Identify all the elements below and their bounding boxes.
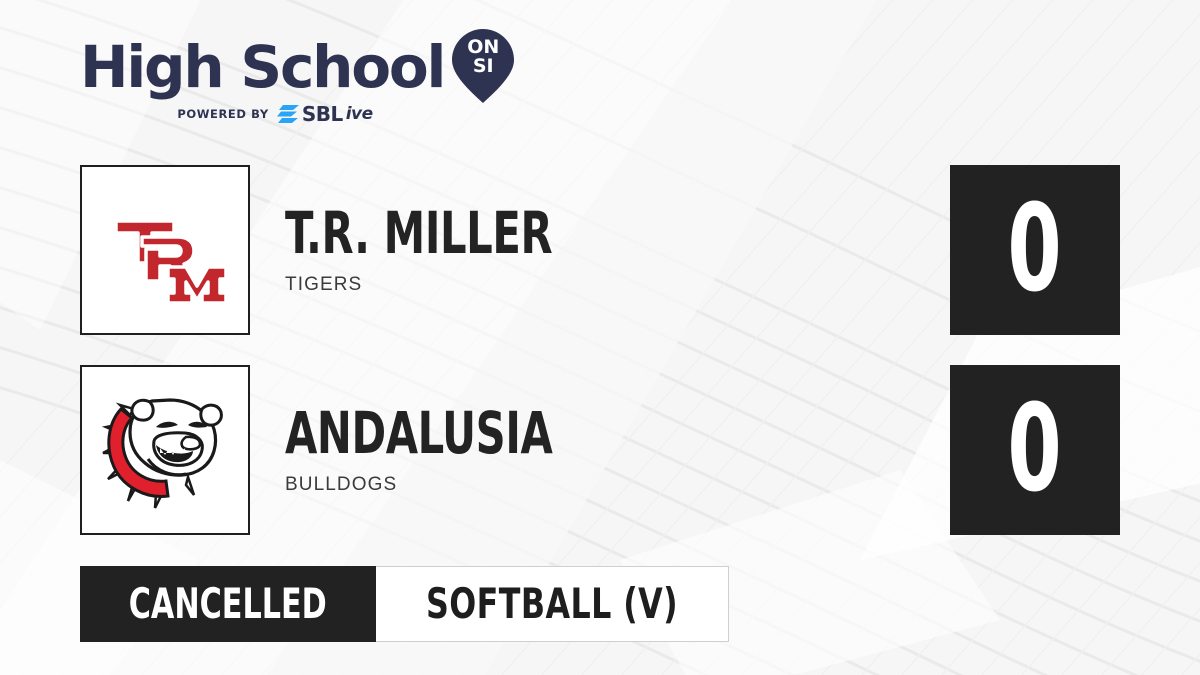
team-row: T.R. MILLER TIGERS 0 bbox=[80, 165, 1120, 335]
team-logo-box bbox=[80, 165, 250, 335]
powered-by-label: POWERED BY bbox=[177, 107, 268, 121]
onsi-line-si: SI bbox=[450, 57, 516, 76]
sblive-logo: SBL ive bbox=[277, 104, 373, 124]
trm-monogram-logo-icon bbox=[90, 175, 240, 325]
bulldog-head-logo-icon bbox=[90, 375, 240, 525]
team-name: ANDALUSIA bbox=[285, 404, 552, 462]
team-score-box: 0 bbox=[950, 165, 1120, 335]
sport-badge-label: SOFTBALL (V) bbox=[426, 583, 678, 625]
sblive-name-tail: ive bbox=[346, 104, 373, 124]
onsi-pin-icon: ON SI bbox=[450, 27, 510, 105]
sblive-name-main: SBL bbox=[302, 104, 343, 124]
sblive-arrow-icon bbox=[277, 105, 299, 123]
status-badge: CANCELLED bbox=[80, 566, 376, 642]
status-bar: CANCELLED SOFTBALL (V) bbox=[80, 566, 729, 642]
brand-wordmark: High School bbox=[80, 36, 444, 98]
team-logo-box bbox=[80, 365, 250, 535]
onsi-badge-text: ON SI bbox=[450, 38, 516, 76]
team-text-block: T.R. MILLER TIGERS bbox=[285, 165, 619, 335]
team-text-block: ANDALUSIA BULLDOGS bbox=[285, 365, 619, 535]
team-score: 0 bbox=[1008, 190, 1062, 310]
team-score: 0 bbox=[1008, 390, 1062, 510]
brand-row: High School ON SI bbox=[80, 34, 510, 100]
team-mascot: BULLDOGS bbox=[285, 474, 619, 496]
sport-badge: SOFTBALL (V) bbox=[376, 566, 729, 642]
brand-lockup: High School ON SI POWERED BY SBL bbox=[80, 34, 510, 134]
team-row: ANDALUSIA BULLDOGS 0 bbox=[80, 365, 1120, 535]
team-name: T.R. MILLER bbox=[285, 204, 552, 262]
status-badge-label: CANCELLED bbox=[129, 583, 327, 625]
powered-by-row: POWERED BY SBL ive bbox=[80, 104, 510, 124]
team-mascot: TIGERS bbox=[285, 274, 619, 296]
team-score-box: 0 bbox=[950, 365, 1120, 535]
